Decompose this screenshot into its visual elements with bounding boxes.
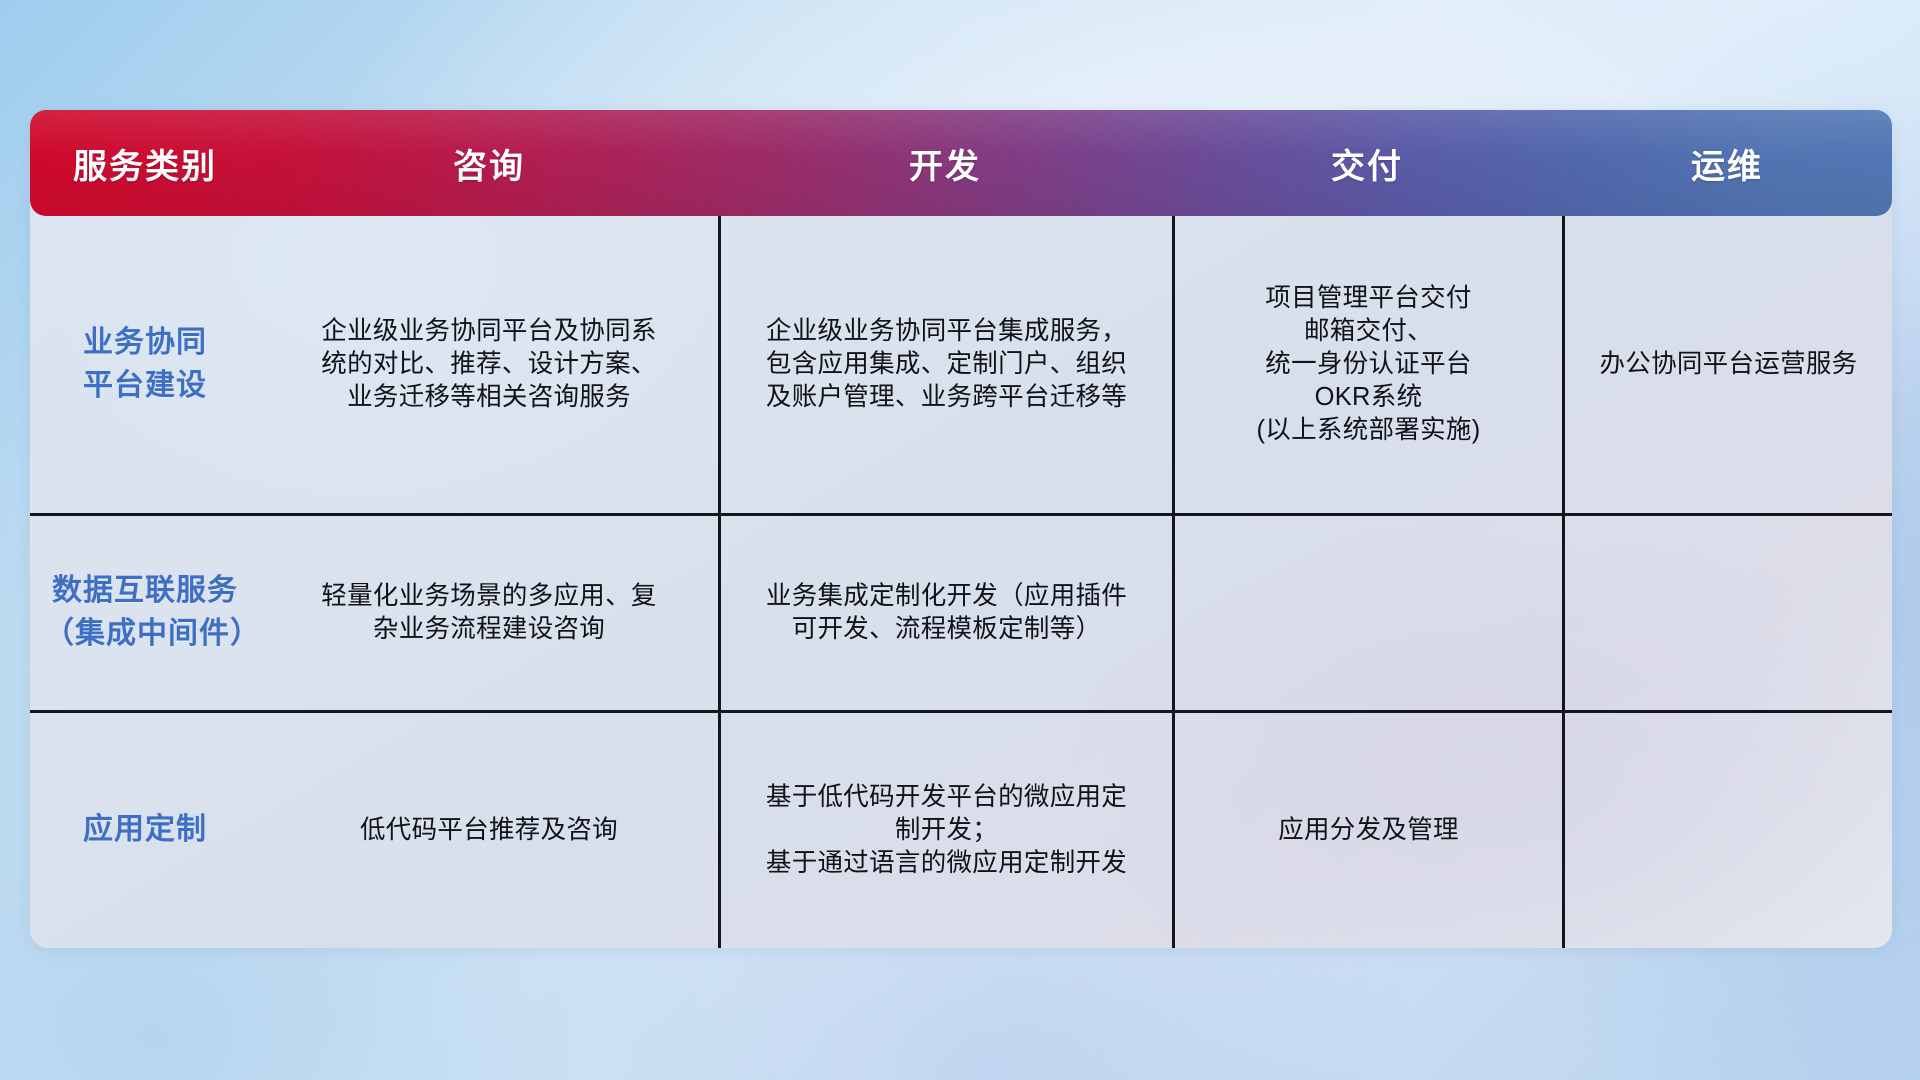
column-header-consult: 咨询: [260, 139, 718, 188]
cell-develop: 业务集成定制化开发（应用插件 可开发、流程模板定制等）: [718, 516, 1172, 710]
cell-text: 业务协同 平台建设: [83, 322, 207, 407]
cell-deliver: 项目管理平台交付 邮箱交付、 统一身份认证平台 OKR系统 (以上系统部署实施): [1172, 216, 1562, 513]
row-category-cell: 数据互联服务 （集成中间件）: [30, 516, 260, 710]
column-header-deliver: 交付: [1172, 139, 1562, 188]
cell-text: 应用定制: [83, 809, 207, 852]
cell-text: 办公协同平台运营服务: [1599, 348, 1857, 381]
cell-consult: 轻量化业务场景的多应用、复 杂业务流程建设咨询: [260, 516, 718, 710]
cell-text: 项目管理平台交付 邮箱交付、 统一身份认证平台 OKR系统 (以上系统部署实施): [1257, 282, 1481, 448]
column-header-develop: 开发: [718, 139, 1172, 188]
cell-text: 应用分发及管理: [1278, 814, 1459, 847]
cell-develop: 基于低代码开发平台的微应用定 制开发； 基于通过语言的微应用定制开发: [718, 713, 1172, 948]
cell-text: 业务集成定制化开发（应用插件 可开发、流程模板定制等）: [766, 580, 1127, 646]
cell-consult: 低代码平台推荐及咨询: [260, 713, 718, 948]
cell-text: 基于低代码开发平台的微应用定 制开发； 基于通过语言的微应用定制开发: [766, 781, 1127, 880]
cell-text: 低代码平台推荐及咨询: [360, 814, 618, 847]
cell-consult: 企业级业务协同平台及协同系 统的对比、推荐、设计方案、 业务迁移等相关咨询服务: [260, 216, 718, 513]
cell-operate: 办公协同平台运营服务: [1562, 216, 1892, 513]
table-body: 业务协同 平台建设 企业级业务协同平台及协同系 统的对比、推荐、设计方案、 业务…: [30, 216, 1892, 948]
table-row: 应用定制 低代码平台推荐及咨询 基于低代码开发平台的微应用定 制开发； 基于通过…: [30, 713, 1892, 948]
table-row: 数据互联服务 （集成中间件） 轻量化业务场景的多应用、复 杂业务流程建设咨询 业…: [30, 516, 1892, 713]
cell-operate: [1562, 713, 1892, 948]
table-row: 业务协同 平台建设 企业级业务协同平台及协同系 统的对比、推荐、设计方案、 业务…: [30, 216, 1892, 516]
cell-deliver: [1172, 516, 1562, 710]
cell-develop: 企业级业务协同平台集成服务， 包含应用集成、定制门户、组织 及账户管理、业务跨平…: [718, 216, 1172, 513]
table-header-row: 服务类别 咨询 开发 交付 运维: [30, 110, 1892, 216]
column-header-category: 服务类别: [30, 139, 260, 188]
cell-text: 数据互联服务 （集成中间件）: [44, 570, 246, 655]
cell-text: 企业级业务协同平台集成服务， 包含应用集成、定制门户、组织 及账户管理、业务跨平…: [766, 315, 1127, 414]
cell-deliver: 应用分发及管理: [1172, 713, 1562, 948]
row-category-cell: 业务协同 平台建设: [30, 216, 260, 513]
row-category-cell: 应用定制: [30, 713, 260, 948]
cell-text: 轻量化业务场景的多应用、复 杂业务流程建设咨询: [321, 580, 656, 646]
column-header-operate: 运维: [1562, 139, 1892, 188]
cell-text: 企业级业务协同平台及协同系 统的对比、推荐、设计方案、 业务迁移等相关咨询服务: [321, 315, 656, 414]
service-matrix-table: 服务类别 咨询 开发 交付 运维 业务协同 平台建设 企业级业务协同平台及协同系…: [30, 110, 1892, 948]
cell-operate: [1562, 516, 1892, 710]
